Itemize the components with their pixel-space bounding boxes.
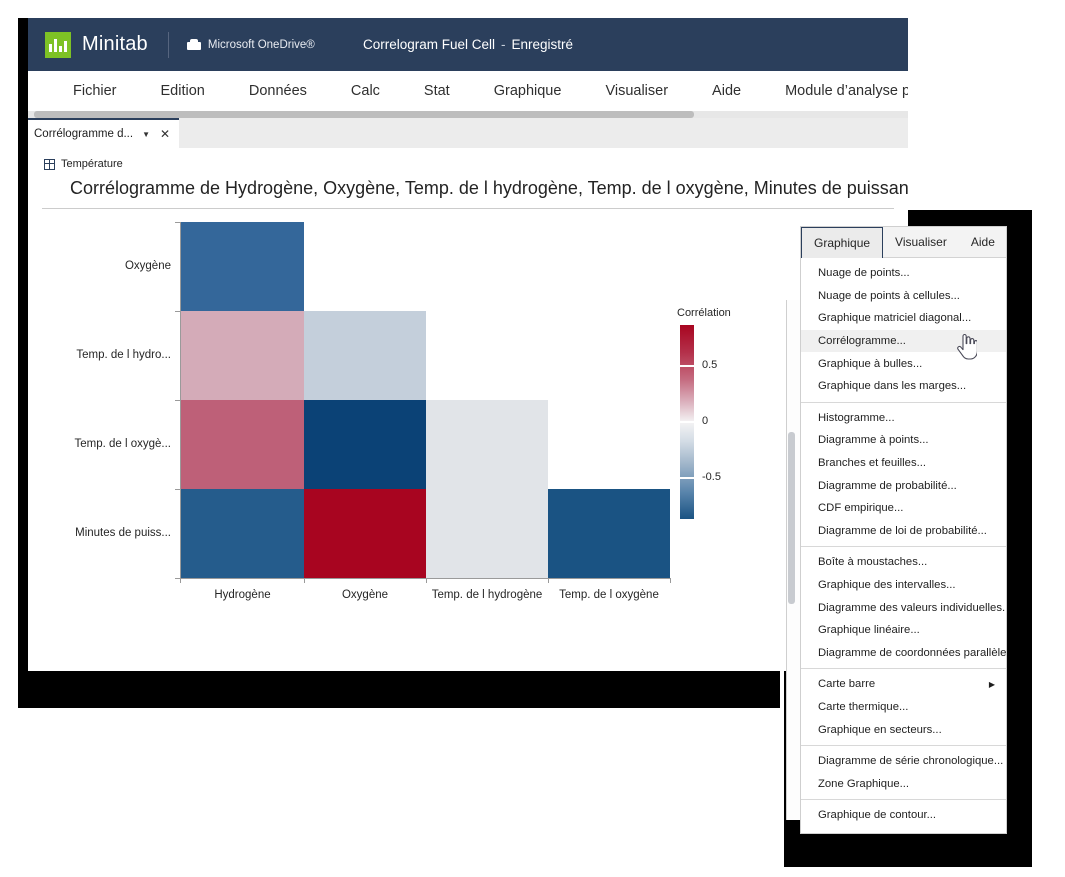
x-axis-label-3: Temp. de l oxygène (548, 589, 670, 601)
document-save-status: Enregistré (512, 37, 574, 52)
chevron-right-icon: ▶ (989, 680, 995, 689)
menu-module-analyse-predictive[interactable]: Module d’analyse prédictive (785, 83, 908, 99)
menu-calc[interactable]: Calc (351, 83, 380, 99)
menu-item-label: Diagramme de probabilité... (818, 480, 957, 492)
title-divider (168, 32, 169, 58)
worksheet-breadcrumb: Température (28, 148, 908, 170)
menu-graphique[interactable]: Graphique (494, 83, 562, 99)
menu-item-nuage-de-points[interactable]: Nuage de points... (801, 262, 1006, 285)
menu-item-label: Graphique linéaire... (818, 624, 920, 636)
menu-item-label: Nuage de points... (818, 267, 910, 279)
horizontal-scrollbar[interactable] (28, 111, 908, 118)
heatmap-cell[interactable] (181, 222, 304, 311)
menu-item-diagramme-des-valeurs-individuelles[interactable]: Diagramme des valeurs individuelles... (801, 596, 1006, 619)
menu-item-label: Corrélogramme... (818, 335, 906, 347)
heatmap-cell[interactable] (181, 311, 304, 400)
menu-item-graphique-lineaire[interactable]: Graphique linéaire... (801, 619, 1006, 642)
heatmap-cell[interactable] (426, 489, 548, 578)
menu-item-cdf-empirique[interactable]: CDF empirique... (801, 497, 1006, 520)
menu-item-label: Diagramme à points... (818, 434, 929, 446)
document-title-area: Correlogram Fuel Cell-Enregistré (363, 37, 573, 52)
menu-visualiser[interactable]: Visualiser (605, 83, 668, 99)
menu-item-label: Nuage de points à cellules... (818, 290, 960, 302)
menu-item-diagramme-de-coordonnees-paralleles[interactable]: Diagramme de coordonnées parallèles... (801, 642, 1006, 665)
main-menu-bar: Fichier Edition Données Calc Stat Graphi… (28, 71, 908, 111)
menu-item-label: Graphique de contour... (818, 809, 936, 821)
x-axis-tick (426, 578, 427, 583)
menu-fichier[interactable]: Fichier (73, 83, 117, 99)
title-bar: Minitab Microsoft OneDrive® Correlogram … (28, 18, 908, 71)
colorbar-tick-mark (680, 477, 694, 479)
x-axis-tick (548, 578, 549, 583)
heatmap-cell[interactable] (181, 400, 304, 489)
document-title: Correlogram Fuel Cell (363, 37, 495, 52)
tab-correlogramme[interactable]: Corrélogramme d... ▼ ✕ (28, 118, 179, 148)
menu-item-diagramme-de-loi-de-probabilite[interactable]: Diagramme de loi de probabilité... (801, 520, 1006, 543)
minitab-application-window: Minitab Microsoft OneDrive® Correlogram … (28, 18, 908, 671)
menu-item-label: Boîte à moustaches... (818, 556, 927, 568)
heatmap-cell[interactable] (426, 400, 548, 489)
x-axis-label-0: Hydrogène (181, 589, 304, 601)
chart-title: Corrélogramme de Hydrogène, Oxygène, Tem… (28, 170, 908, 208)
y-axis-line (180, 222, 181, 578)
menu-separator (801, 799, 1006, 800)
output-tab-strip: Corrélogramme d... ▼ ✕ (28, 118, 908, 148)
menu-aide[interactable]: Aide (712, 83, 741, 99)
document-content: Température Corrélogramme de Hydrogène, … (28, 148, 908, 671)
scrollbar-thumb[interactable] (34, 111, 694, 118)
y-axis-label-0: Oxygène (28, 260, 171, 272)
worksheet-name: Température (61, 158, 123, 170)
menu-item-boite-a-moustaches[interactable]: Boîte à moustaches... (801, 551, 1006, 574)
colorbar-tick-mark (680, 421, 694, 423)
graphique-menu-panel: Graphique Visualiser Aide Nuage de point… (800, 226, 1007, 834)
x-axis-tick (670, 578, 671, 583)
menu-panel-tab-bar: Graphique Visualiser Aide (801, 227, 1006, 258)
menu-item-diagramme-a-points[interactable]: Diagramme à points... (801, 429, 1006, 452)
y-axis-tick (175, 489, 180, 490)
menu-item-label: Graphique en secteurs... (818, 724, 942, 736)
onedrive-briefcase-icon (187, 39, 201, 51)
menu-separator (801, 402, 1006, 403)
colorbar-tick-label-2: -0.5 (702, 471, 721, 483)
y-axis-tick (175, 311, 180, 312)
menu-item-nuage-de-points-en-3d[interactable]: Nuage de points en 3D... (801, 827, 1006, 834)
x-axis-label-2: Temp. de l hydrogène (426, 589, 548, 601)
document-title-separator: - (501, 37, 506, 52)
heatmap-cell[interactable] (304, 400, 426, 489)
tab-graphique-label: Graphique (814, 236, 870, 250)
menu-item-diagramme-de-probabilite[interactable]: Diagramme de probabilité... (801, 474, 1006, 497)
heatmap-cell[interactable] (304, 489, 426, 578)
menu-item-label: Graphique matriciel diagonal... (818, 312, 971, 324)
close-icon[interactable]: ✕ (160, 127, 170, 141)
tab-graphique[interactable]: Graphique (801, 227, 883, 258)
colorbar-tick-mark (680, 365, 694, 367)
y-axis-tick (175, 400, 180, 401)
menu-item-label: Carte barre (818, 678, 875, 690)
menu-item-label: Diagramme des valeurs individuelles... (818, 602, 1007, 614)
heatmap-cell[interactable] (181, 489, 304, 578)
menu-item-carte-barre[interactable]: Carte barre ▶ (801, 673, 1006, 696)
background-window-scrollbar-thumb[interactable] (788, 432, 795, 604)
menu-item-label: Diagramme de coordonnées parallèles... (818, 647, 1007, 659)
menu-separator (801, 546, 1006, 547)
menu-item-graphique-matriciel-diagonal[interactable]: Graphique matriciel diagonal... (801, 307, 1006, 330)
menu-item-diagramme-de-serie-chronologique[interactable]: Diagramme de série chronologique... (801, 750, 1006, 773)
menu-edition[interactable]: Edition (161, 83, 205, 99)
heatmap-cell[interactable] (304, 311, 426, 400)
menu-item-label: Branches et feuilles... (818, 457, 926, 469)
minitab-bar-chart-logo-icon (45, 32, 71, 58)
chevron-down-icon[interactable]: ▼ (142, 130, 150, 139)
menu-separator (801, 668, 1006, 669)
menu-item-label: Nuage de points en 3D... (818, 832, 943, 834)
tab-aide-label: Aide (971, 235, 995, 249)
y-axis-label-3: Minutes de puiss... (28, 527, 171, 539)
correlogram-plot: Oxygène Temp. de l hydro... Temp. de l o… (28, 209, 908, 629)
worksheet-grid-icon (44, 159, 55, 170)
menu-item-histogramme[interactable]: Histogramme... (801, 407, 1006, 430)
tab-label: Corrélogramme d... (34, 128, 133, 140)
colorbar-title: Corrélation (677, 307, 731, 319)
x-axis-label-1: Oxygène (304, 589, 426, 601)
x-axis-tick (304, 578, 305, 583)
menu-item-label: Graphique des intervalles... (818, 579, 956, 591)
tab-aide[interactable]: Aide (959, 227, 1007, 257)
colorbar-tick-label-0: 0.5 (702, 359, 717, 371)
y-axis-label-1: Temp. de l hydro... (28, 349, 171, 361)
menu-item-nuage-de-points-a-cellules[interactable]: Nuage de points à cellules... (801, 285, 1006, 308)
menu-item-label: Histogramme... (818, 412, 895, 424)
menu-item-graphique-de-contour[interactable]: Graphique de contour... (801, 804, 1006, 827)
menu-item-graphique-en-secteurs[interactable]: Graphique en secteurs... (801, 718, 1006, 741)
menu-item-label: Graphique à bulles... (818, 358, 922, 370)
pointing-hand-cursor (955, 334, 977, 360)
menu-stat[interactable]: Stat (424, 83, 450, 99)
menu-item-label: Diagramme de loi de probabilité... (818, 525, 987, 537)
menu-item-graphique-dans-les-marges[interactable]: Graphique dans les marges... (801, 375, 1006, 398)
menu-item-carte-thermique[interactable]: Carte thermique... (801, 696, 1006, 719)
menu-donnees[interactable]: Données (249, 83, 307, 99)
menu-item-zone-graphique[interactable]: Zone Graphique... (801, 772, 1006, 795)
menu-item-label: CDF empirique... (818, 502, 903, 514)
heatmap-cell[interactable] (548, 489, 670, 578)
x-axis-tick (180, 578, 181, 583)
menu-item-label: Zone Graphique... (818, 778, 909, 790)
tab-visualiser-label: Visualiser (895, 235, 947, 249)
brand-name: Minitab (82, 33, 148, 56)
tab-visualiser[interactable]: Visualiser (883, 227, 959, 257)
menu-separator (801, 745, 1006, 746)
menu-item-label: Graphique dans les marges... (818, 380, 966, 392)
y-axis-label-2: Temp. de l oxygè... (28, 438, 171, 450)
colorbar-tick-label-1: 0 (702, 415, 708, 427)
y-axis-tick (175, 222, 180, 223)
menu-item-graphique-des-intervalles[interactable]: Graphique des intervalles... (801, 574, 1006, 597)
menu-item-branches-et-feuilles[interactable]: Branches et feuilles... (801, 452, 1006, 475)
storage-provider-label: Microsoft OneDrive® (208, 39, 315, 51)
menu-item-label: Diagramme de série chronologique... (818, 755, 1003, 767)
menu-item-label: Carte thermique... (818, 701, 908, 713)
